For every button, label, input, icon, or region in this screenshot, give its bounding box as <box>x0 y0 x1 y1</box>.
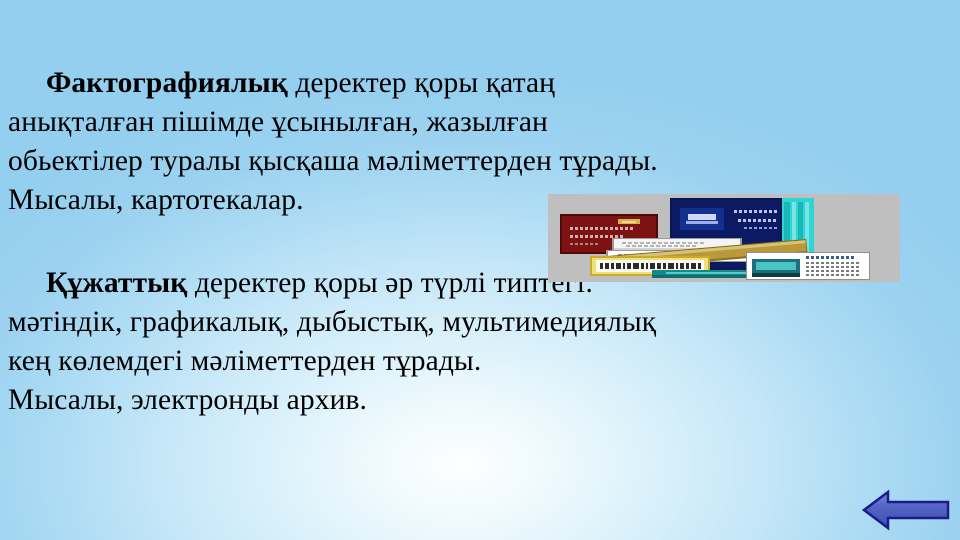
library-card-catalog-canvas <box>548 194 900 282</box>
paragraph-1-line-2: анықталған пішімде ұсынылған, жазылған <box>8 103 952 142</box>
paragraph-1-lead-term: Фактографиялық <box>46 67 288 99</box>
paragraph-1-line-3: обьектілер туралы қысқаша мәліметтерден … <box>8 142 952 181</box>
paragraph-2-line-4: Мысалы, электронды архив. <box>8 381 952 420</box>
paragraph-2-lead-term: Құжаттық <box>46 267 187 299</box>
paragraph-2-line-1-rest: деректер қоры әр түрлі типтегі: <box>187 267 593 299</box>
back-arrow-icon <box>862 488 950 532</box>
presentation-slide: Фактографиялық деректер қоры қатаң анықт… <box>0 0 960 540</box>
paragraph-1-line-1: Фактографиялық деректер қоры қатаң <box>8 64 952 103</box>
paragraph-2-line-3: кең көлемдегі мәліметтерден тұрады. <box>8 342 952 381</box>
paragraph-1-line-1-rest: деректер қоры қатаң <box>288 67 555 99</box>
paragraph-quzhattyq: Құжаттық деректер қоры әр түрлі типтегі:… <box>8 264 952 420</box>
back-arrow-button[interactable] <box>862 488 950 532</box>
paragraph-2-line-2: мәтіндік, графикалық, дыбыстық, мультиме… <box>8 303 952 342</box>
library-card-catalog-image <box>548 194 900 282</box>
